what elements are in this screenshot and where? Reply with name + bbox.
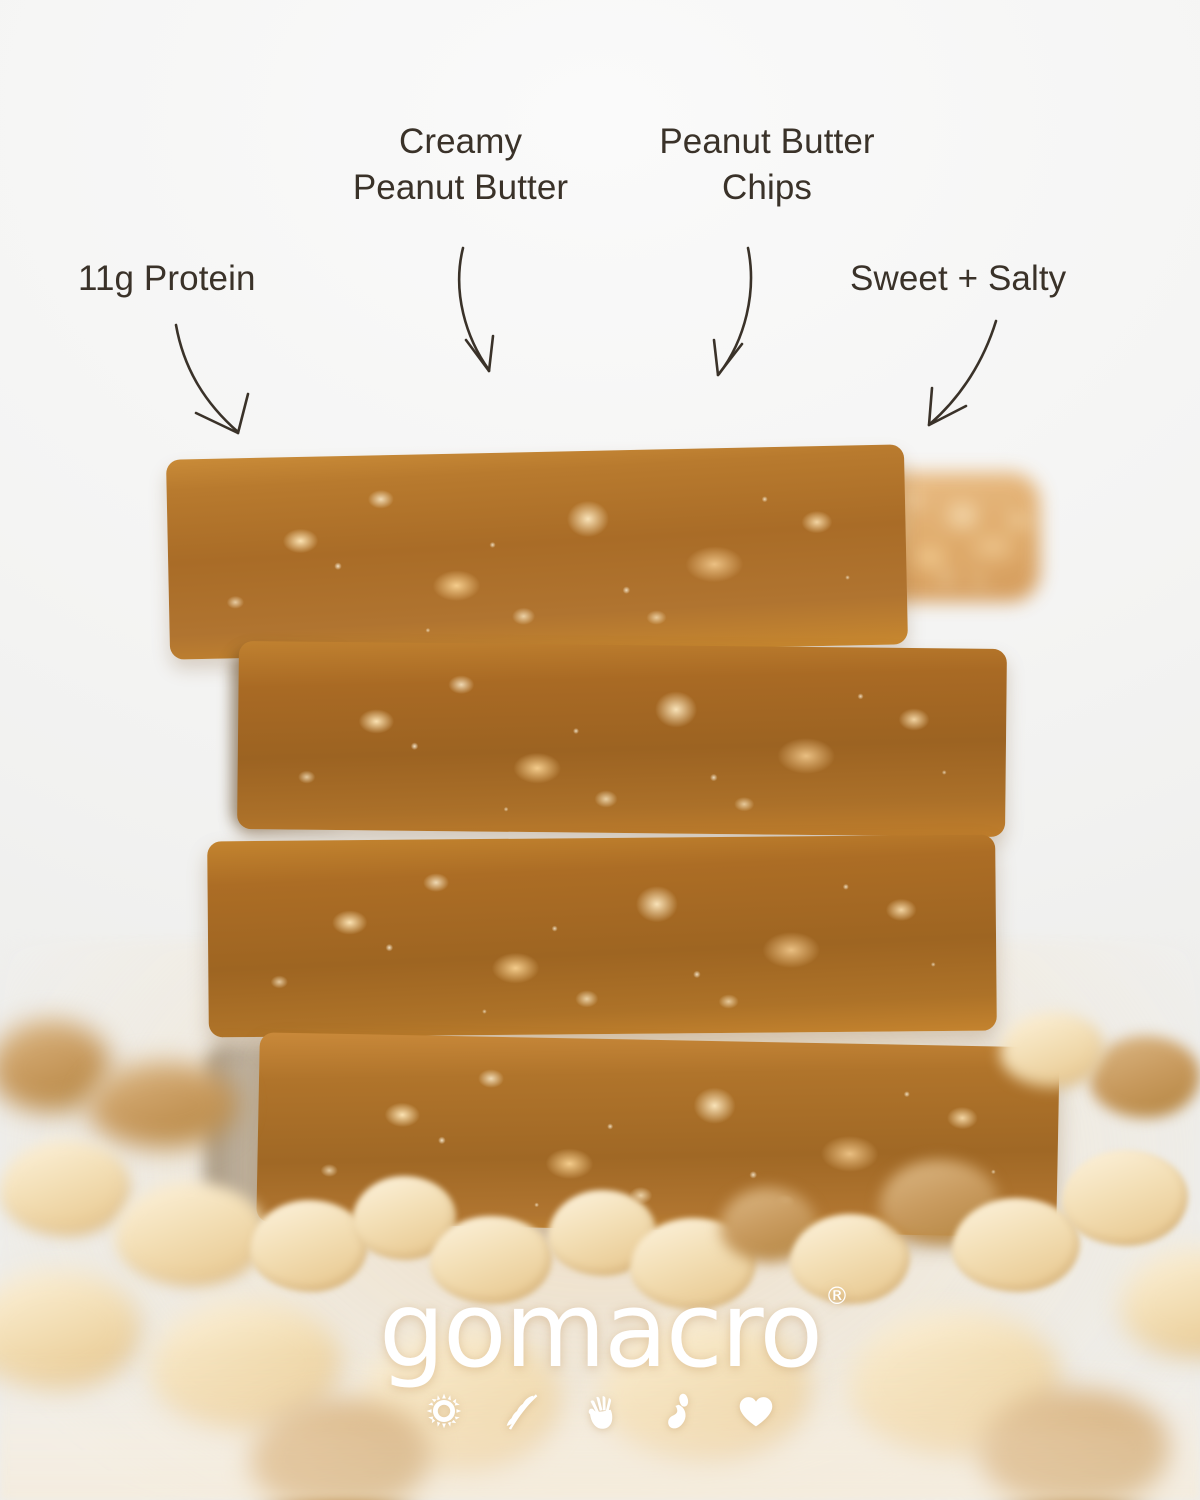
callout-peanut-butter-chips: Peanut Butter Chips (622, 119, 912, 210)
footprint-icon (655, 1388, 701, 1434)
wheat-stalk-icon (499, 1388, 545, 1434)
logo-wordmark: gomacro ® (379, 1278, 821, 1382)
bar-1 (166, 444, 908, 659)
sun-icon (421, 1388, 467, 1434)
callout-creamy-peanut-butter: Creamy Peanut Butter (318, 119, 603, 210)
brand-logo: gomacro ® (0, 1278, 1200, 1434)
hand-icon (577, 1388, 623, 1434)
certification-icons (0, 1388, 1200, 1434)
callout-protein: 11g Protein (78, 256, 256, 302)
bar-2 (237, 641, 1007, 837)
product-infographic: 11g Protein Creamy Peanut Butter Peanut … (0, 0, 1200, 1500)
registered-trademark-icon: ® (825, 1284, 847, 1308)
callout-sweet-salty: Sweet + Salty (850, 256, 1066, 302)
logo-wordmark-text: gomacro (379, 1269, 821, 1391)
heart-icon (733, 1388, 779, 1434)
bar-3 (207, 835, 997, 1038)
